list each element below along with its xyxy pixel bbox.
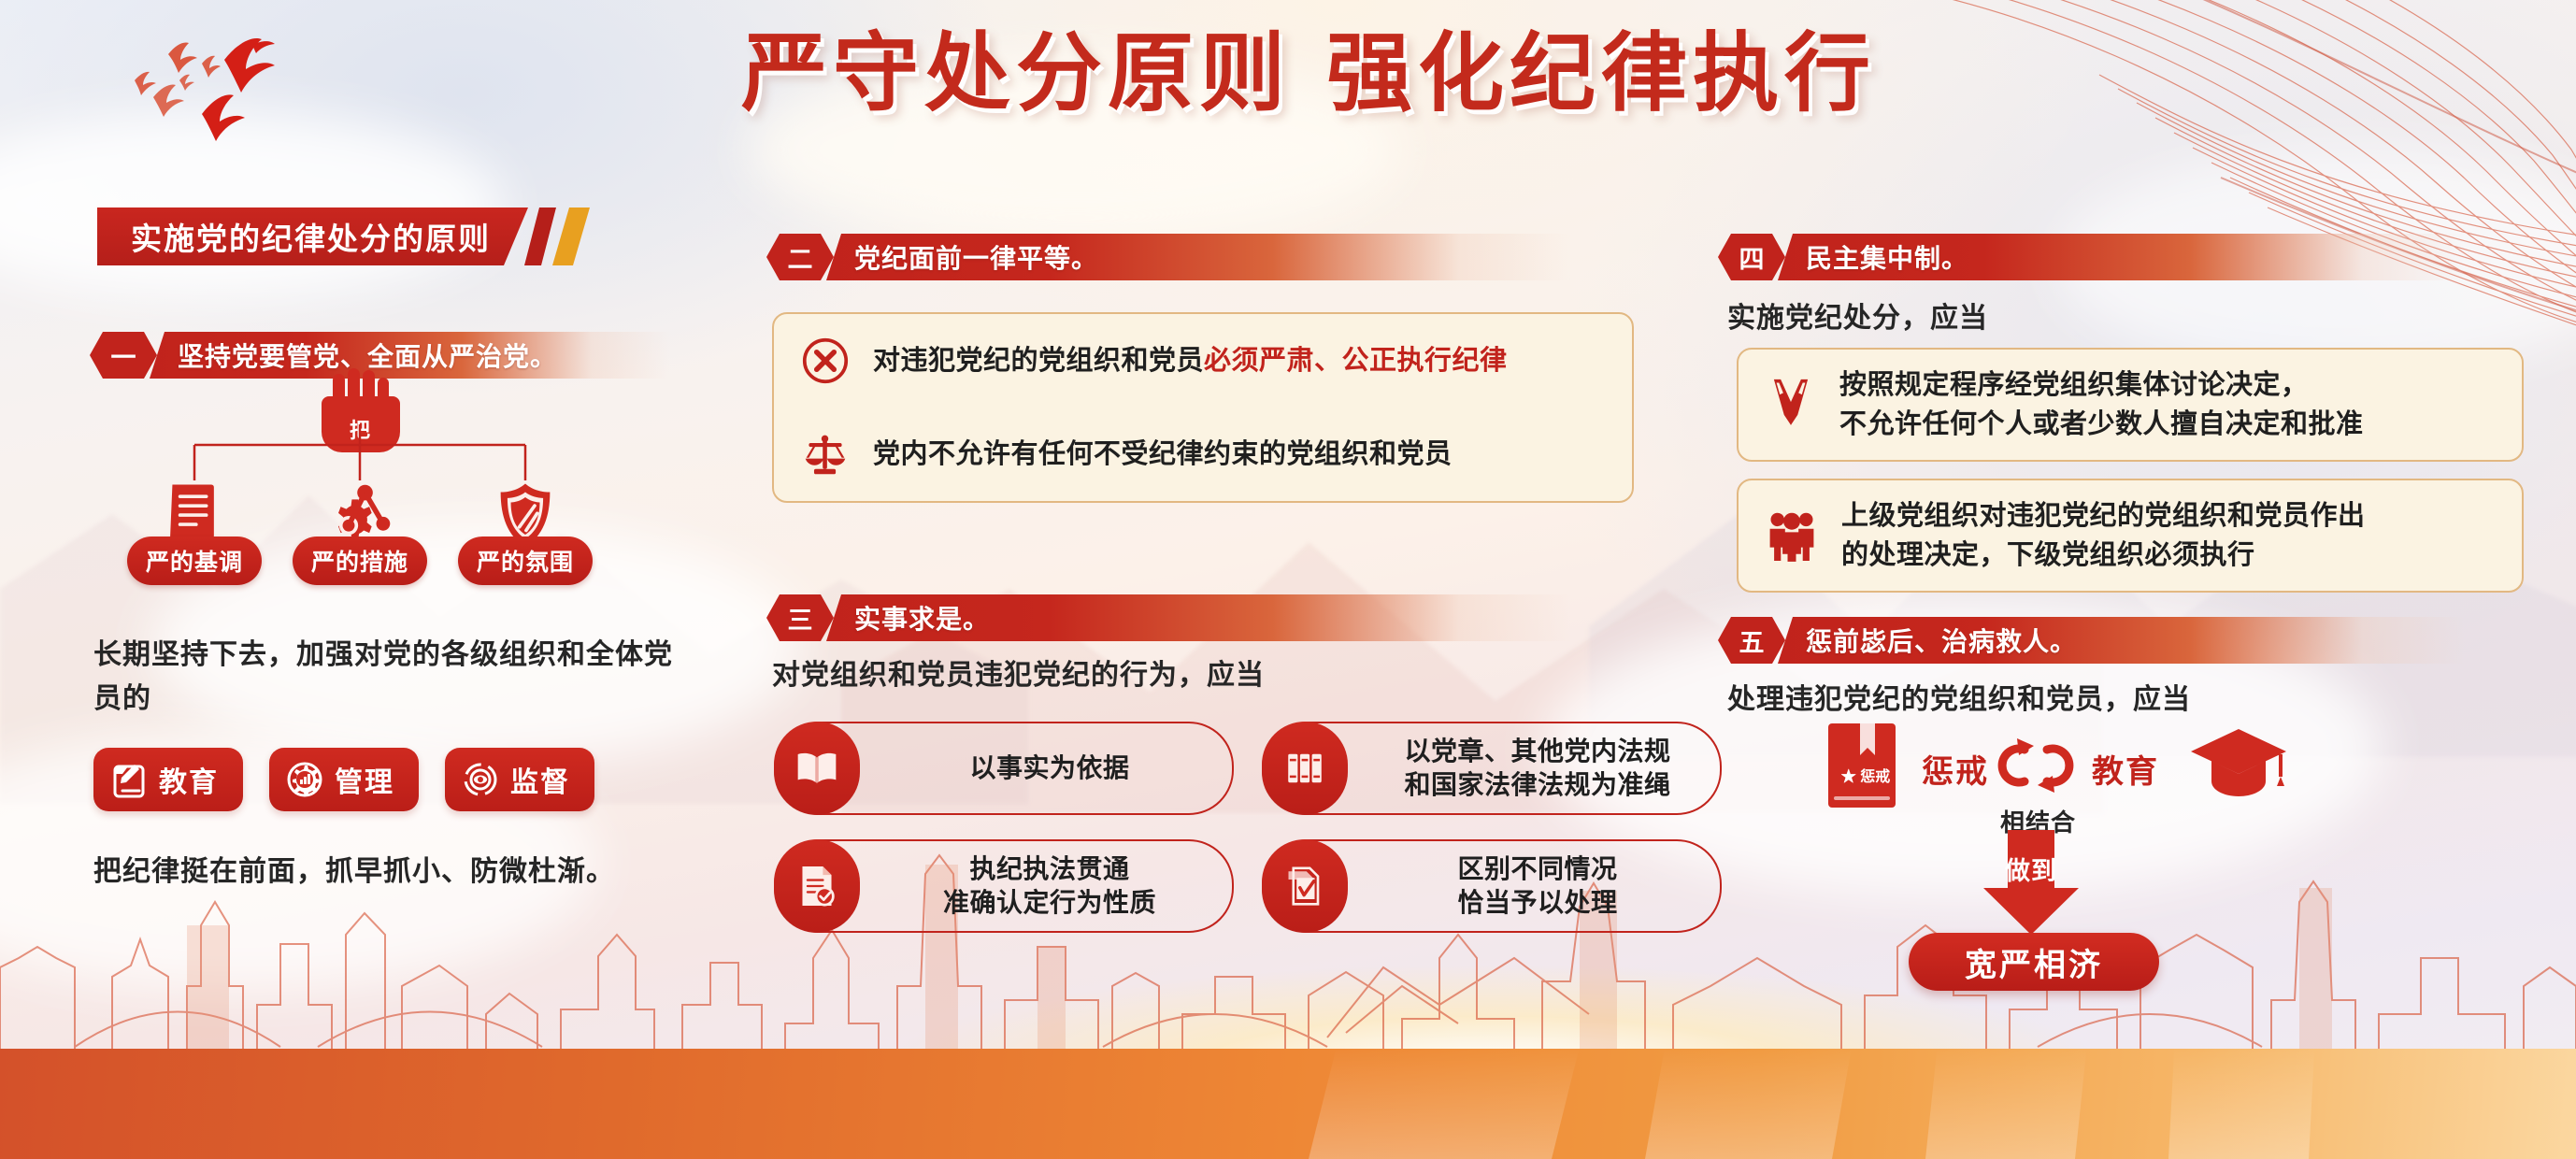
main-banner-label: 实施党的纪律处分的原则 [131,214,491,259]
flag-stripe-yellow [552,207,590,265]
section-2-card: 对违犯党纪的党组织和党员必须严肃、公正执行纪律 党内 [772,312,1634,503]
ground-ray-2 [1645,1049,1852,1159]
section-3-box-0-label: 以事实为依据 [886,751,1232,785]
main-banner-bar: 实施党的纪律处分的原则 [97,207,528,265]
section-4-item-1-text: 上级党组织对违犯党纪的党组织和党员作出 的处理决定，下级党组织必须执行 [1841,496,2366,575]
section-heading-3: 实事求是。 [854,599,990,637]
target-eye-icon [462,761,499,798]
section-4-item-0: 按照规定程序经党组织集体讨论决定， 不允许任何个人或者少数人擅自决定和批准 [1739,350,2522,460]
books-icon [1262,722,1348,815]
open-book-icon [774,722,860,815]
document-check-icon [774,839,860,933]
ground-ray-3 [1925,1049,2086,1159]
tree-leaf-label-1: 严的措施 [293,537,427,585]
flying-birds-icon [112,28,467,150]
section-4-card-0: 按照规定程序经党组织集体讨论决定， 不允许任何个人或者少数人擅自决定和批准 [1737,348,2524,462]
section-header-4: 四 民主集中制。 [1718,234,2466,280]
strictness-tree-diagram: 把 [140,366,580,637]
gear-chart-icon [286,761,323,798]
section-title-strip-4: 民主集中制。 [1778,234,2466,280]
section-title-strip-2: 党纪面前一律平等。 [826,234,1570,280]
chip-management[interactable]: 管理 [269,748,419,811]
section-header-5: 五 惩前毖后、治病救人。 [1718,617,2466,664]
section-1-paragraph: 长期坚持下去，加强对党的各级组织和全体党员的 [93,634,692,721]
section-3-box-2-label: 执纪执法贯通 准确认定行为性质 [886,852,1232,921]
section-1-paragraph-2: 把纪律挺在前面，抓早抓小、防微杜渐。 [93,851,748,894]
section-3-box-3-label: 区别不同情况 恰当予以处理 [1374,852,1720,921]
combine-left-word: 惩戒 [1922,746,1989,792]
section-header-2: 二 党纪面前一律平等。 [766,234,1570,280]
chip-label-1: 管理 [335,759,394,800]
chip-label-2: 监督 [510,759,570,800]
section-heading-5: 惩前毖后、治病救人。 [1806,622,2077,659]
section-3-box-0[interactable]: 以事实为依据 [774,722,1234,815]
banner-flag-accent [528,207,610,265]
section-number-3: 三 [766,594,834,641]
arrow-label: 做到 [1994,851,2068,887]
tree-leaf-label-2: 严的氛围 [458,537,593,585]
poster-root: 严守处分原则 强化纪律执行 实施党的纪律处分的原则 一 坚持党要管党、全面从严治… [0,0,2576,1159]
section-2-item-0-text: 对违犯党纪的党组织和党员必须严肃、公正执行纪律 [873,341,1508,380]
section-header-3: 三 实事求是。 [766,594,1570,641]
cycle-arrows-icon [1991,729,2081,802]
x-circle-icon [802,337,849,384]
section-4-lead: 实施党纪处分，应当 [1727,297,2475,341]
scales-icon [802,431,849,478]
chip-education[interactable]: 教育 [93,748,243,811]
scroll-pen-icon [110,761,148,798]
section-5-lead: 处理违犯党纪的党组织和党员，应当 [1727,679,2475,723]
section-3-box-1[interactable]: 以党章、其他党内法规 和国家法律法规为准绳 [1262,722,1722,815]
checklist-icon [1262,839,1348,933]
section-3-box-2[interactable]: 执纪执法贯通 准确认定行为性质 [774,839,1234,933]
section-2-item-0-plain: 对违犯党纪的党组织和党员 [873,346,1204,376]
section-title-strip-3: 实事求是。 [826,594,1570,641]
main-banner: 实施党的纪律处分的原则 [97,207,610,265]
section-title-strip-5: 惩前毖后、治病救人。 [1778,617,2466,664]
section-4-item-0-text: 按照规定程序经党组织集体讨论决定， 不允许任何个人或者少数人擅自决定和批准 [1839,365,2364,444]
flag-stripe-red [524,207,556,265]
section-number-4: 四 [1718,234,1785,280]
ground-ray-4 [2168,1049,2314,1159]
page-title: 严守处分原则 强化纪律执行 [645,24,1972,123]
section-heading-4: 民主集中制。 [1806,238,1968,276]
svg-text:★ 惩戒: ★ 惩戒 [1841,767,1890,785]
section-2-item-0-highlight: 必须严肃、公正执行纪律 [1204,346,1508,376]
tree-leaf-label-0: 严的基调 [127,537,262,585]
chip-label-0: 教育 [159,759,219,800]
section-number-5: 五 [1718,617,1785,664]
final-result-pill: 宽严相济 [1909,933,2159,991]
graduation-cap-icon [2187,725,2290,802]
section-3-box-1-label: 以党章、其他党内法规 和国家法律法规为准绳 [1374,735,1720,803]
section-3-lead: 对党组织和党员违犯党纪的行为，应当 [772,654,1613,698]
section-5-combine-graphic: ★ 惩戒 惩戒 教育 相结合 做到 宽严相济 [1823,720,2346,1000]
tree-connector-lines [140,424,580,480]
education-management-supervision-chips: 教育 管理 监督 [93,748,594,811]
tree-leaf-2: 严的氛围 [455,477,595,585]
section-number-1: 一 [90,332,157,379]
section-4-item-1: 上级党组织对违犯党纪的党组织和党员作出 的处理决定，下级党组织必须执行 [1739,480,2522,591]
section-4-card-1: 上级党组织对违犯党纪的党组织和党员作出 的处理决定，下级党组织必须执行 [1737,479,2524,593]
tree-leaf-0: 严的基调 [124,477,265,585]
combine-right-word: 教育 [2092,746,2159,792]
section-2-item-1-plain: 党内不允许有任何不受纪律约束的党组织和党员 [873,439,1453,469]
section-2-item-0: 对违犯党纪的党组织和党员必须严肃、公正执行纪律 [774,314,1632,408]
chip-supervision[interactable]: 监督 [445,748,594,811]
ground-ray-1 [1309,1049,1579,1159]
section-2-item-1-text: 党内不允许有任何不受纪律约束的党组织和党员 [873,435,1453,474]
section-2-item-1: 党内不允许有任何不受纪律约束的党组织和党员 [774,408,1632,501]
crossed-pens-icon [1767,378,1815,432]
section-3-box-3[interactable]: 区别不同情况 恰当予以处理 [1262,839,1722,933]
people-group-icon [1767,509,1817,562]
section-number-2: 二 [766,234,834,280]
tree-leaf-1: 严的措施 [290,477,430,585]
section-heading-2: 党纪面前一律平等。 [854,238,1098,276]
discipline-book-icon: ★ 惩戒 [1823,720,1909,813]
